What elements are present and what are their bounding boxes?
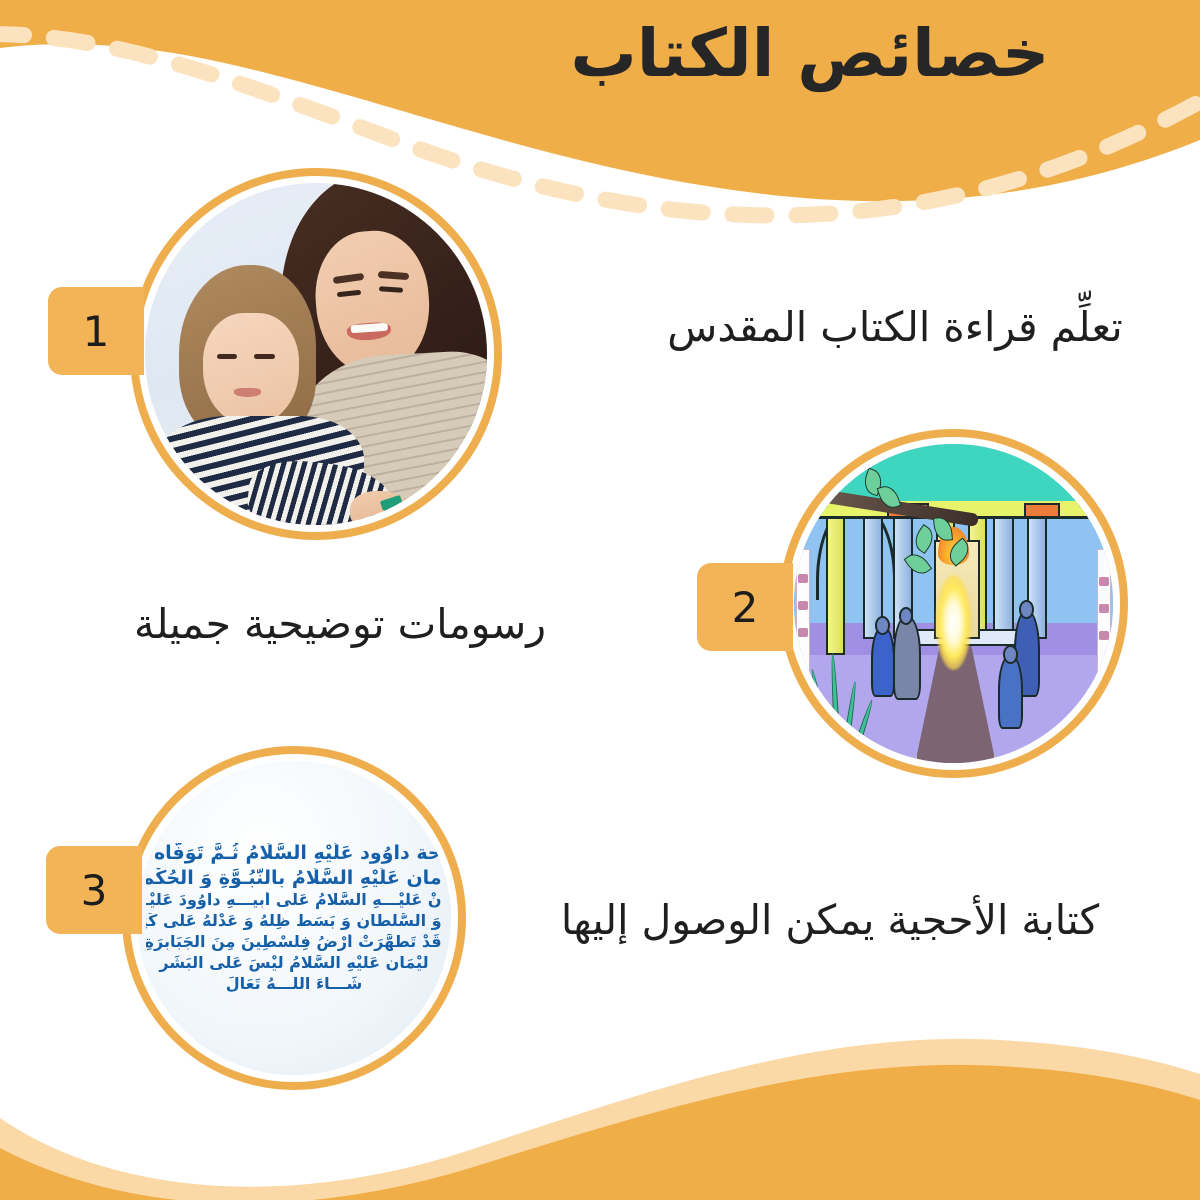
figure-head — [1019, 600, 1034, 619]
feature-3-number-badge: 3 — [46, 846, 142, 934]
figure-head — [1003, 645, 1018, 664]
column-blue-3 — [993, 508, 1014, 640]
margin-glyph — [1099, 631, 1108, 640]
page-margin-right — [1097, 549, 1112, 701]
feature-3-number: 3 — [81, 866, 108, 915]
margin-glyph — [798, 628, 807, 637]
page-title: خصائص الكتاب — [490, 14, 1130, 95]
girl-face — [203, 313, 299, 426]
feature-2-number: 2 — [732, 583, 759, 632]
mother-and-daughter-reading-photo — [145, 183, 487, 525]
feature-2-label: رسومات توضيحية جميلة — [105, 597, 575, 651]
text-page-line: حة داوُود عَلَيْهِ السَّلَامُ ثُـمَّ تَو… — [146, 843, 441, 863]
text-page-line: وَ السُّلْطَانِ وَ بَسَطَ ظِلَّهُ وَ عَد… — [146, 913, 441, 930]
feature-2-number-badge: 2 — [697, 563, 793, 651]
feature-3-image-circle: حة داوُود عَلَيْهِ السَّلَامُ ثُـمَّ تَو… — [122, 746, 466, 1090]
mother-teeth — [350, 323, 388, 334]
bottom-orange-wave — [0, 1065, 1200, 1200]
illustration-canvas — [794, 444, 1113, 763]
text-page-line: مان عَلَيْهِ السَّلَامُ بِالنُّبُـوَّةِ … — [146, 868, 441, 888]
feature-1-image-circle — [130, 168, 502, 540]
feature-1-number-badge: 1 — [48, 287, 144, 375]
margin-glyph — [1099, 604, 1108, 613]
figure-robed — [998, 655, 1023, 729]
divine-light-glow — [936, 575, 971, 671]
figure-robed — [893, 616, 921, 700]
margin-glyph — [798, 601, 807, 610]
text-page-line: شَـــاءَ اللـــهُ تَعَالَ — [146, 976, 441, 993]
capital-orange-right — [1024, 503, 1060, 518]
feature-3-label: كتابة الأحجية يمكن الوصول إليها — [540, 893, 1120, 947]
column-yellow-1 — [826, 511, 845, 655]
feature-1-label: تعلِّم قراءة الكتاب المقدس — [660, 300, 1130, 354]
page-margin-left — [796, 549, 811, 701]
text-page-line: قَدْ تَطَهَّرَتْ أَرْضُ فِلَسْطِينَ مِنَ… — [146, 934, 441, 951]
margin-glyph — [1099, 577, 1108, 586]
feature-2-image-circle — [779, 429, 1128, 778]
temple-illustration-drawing — [794, 444, 1113, 763]
feature-1-number: 1 — [83, 307, 110, 356]
foreground-plants — [813, 655, 896, 763]
girl-eye-right — [254, 354, 275, 359]
text-page: حة داوُود عَلَيْهِ السَّلَامُ ثُـمَّ تَو… — [137, 761, 451, 1075]
margin-glyph — [798, 574, 807, 583]
poster-canvas: خصائص الكتاب 1 تعلِ — [0, 0, 1200, 1200]
text-page-line: لَيْمَان عَلَيْهِ السَّلَامُ لَيْسَ عَلَ… — [146, 955, 441, 972]
girl-eye-left — [217, 354, 238, 359]
arabic-vocalized-text-page: حة داوُود عَلَيْهِ السَّلَامُ ثُـمَّ تَو… — [137, 761, 451, 1075]
text-page-line: نْ عَلَيْـــهِ السَّلَامُ عَلَى أَبِيـــ… — [146, 892, 441, 909]
